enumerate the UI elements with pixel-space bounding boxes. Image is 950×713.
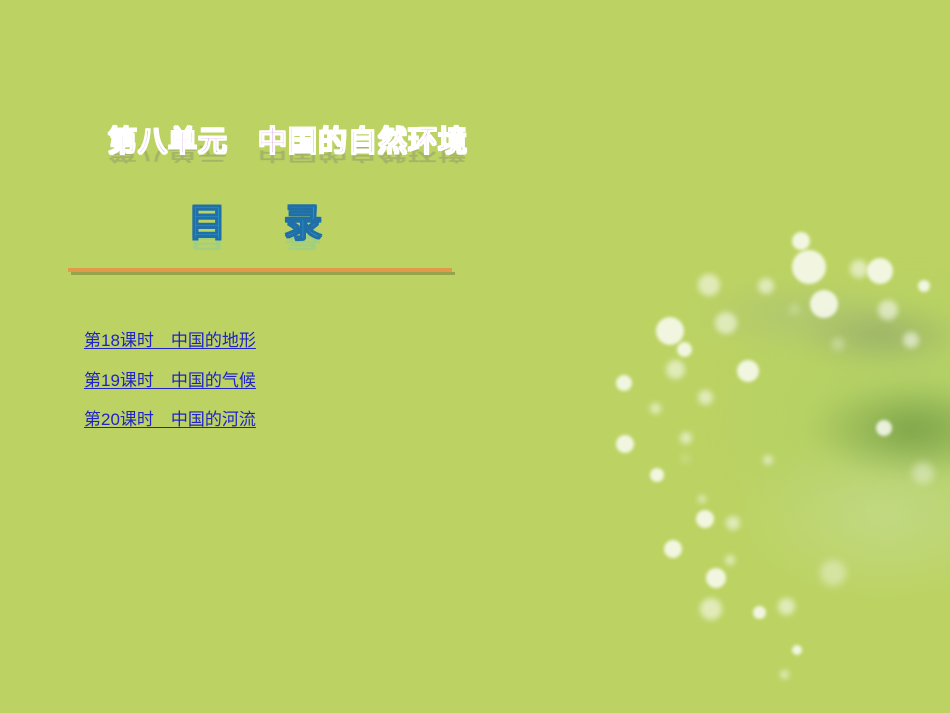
divider — [68, 268, 452, 275]
bokeh-circle — [700, 598, 722, 620]
bokeh-circle — [656, 317, 684, 345]
bokeh-circle — [698, 495, 706, 503]
photo-fade-overlay — [520, 0, 950, 713]
bokeh-circle — [850, 260, 868, 278]
bokeh-circle — [912, 462, 934, 484]
divider-shadow — [71, 272, 455, 275]
bokeh-circle — [792, 250, 826, 284]
bokeh-circle — [792, 232, 810, 250]
bokeh-circle — [876, 420, 892, 436]
bokeh-circle — [758, 278, 774, 294]
bokeh-circle — [820, 560, 846, 586]
bokeh-circle — [753, 606, 766, 619]
toc-link-lesson-20[interactable]: 第20课时 中国的河流 — [84, 410, 256, 430]
toc-link-lesson-18[interactable]: 第18课时 中国的地形 — [84, 331, 256, 351]
bokeh-circle — [778, 598, 795, 615]
bokeh-circle — [706, 568, 726, 588]
bokeh-circle — [650, 468, 664, 482]
bokeh-circle — [696, 510, 714, 528]
bokeh-circle — [725, 555, 735, 565]
bokeh-circle — [677, 342, 692, 357]
bokeh-circle — [867, 258, 893, 284]
bokeh-circle — [780, 670, 789, 679]
bokeh-circle — [878, 300, 898, 320]
bokeh-circle — [737, 360, 759, 382]
bokeh-circle — [810, 290, 838, 318]
bokeh-circle — [792, 645, 802, 655]
bokeh-circle — [903, 332, 919, 348]
bokeh-circle — [918, 280, 930, 292]
bokeh-circle — [698, 390, 713, 405]
bokeh-circle — [680, 432, 692, 444]
bokeh-circle — [616, 375, 632, 391]
table-of-contents-list: 第18课时 中国的地形 第19课时 中国的气候 第20课时 中国的河流 — [84, 331, 514, 450]
bokeh-circle — [763, 455, 773, 465]
bokeh-circle — [664, 540, 682, 558]
bokeh-circle — [650, 403, 661, 414]
bokeh-circle — [790, 305, 799, 314]
presentation-slide: 第八单元 中国的自然环境 第八单元 中国的自然环境 目 录 目 录 第18课时 … — [0, 0, 950, 713]
blurred-grass-photo — [580, 215, 950, 635]
bokeh-circle — [682, 455, 689, 462]
toc-link-lesson-19[interactable]: 第19课时 中国的气候 — [84, 371, 256, 391]
unit-title: 第八单元 中国的自然环境 — [108, 128, 468, 157]
bokeh-circle — [726, 516, 740, 530]
bokeh-circle — [832, 338, 844, 350]
decorative-background-layer — [520, 0, 950, 713]
bokeh-circle — [698, 274, 720, 296]
bokeh-circle — [616, 435, 634, 453]
bokeh-circle — [715, 312, 737, 334]
bokeh-circle — [666, 360, 685, 379]
divider-line — [68, 268, 452, 272]
table-of-contents-heading: 目 录 — [188, 205, 332, 243]
